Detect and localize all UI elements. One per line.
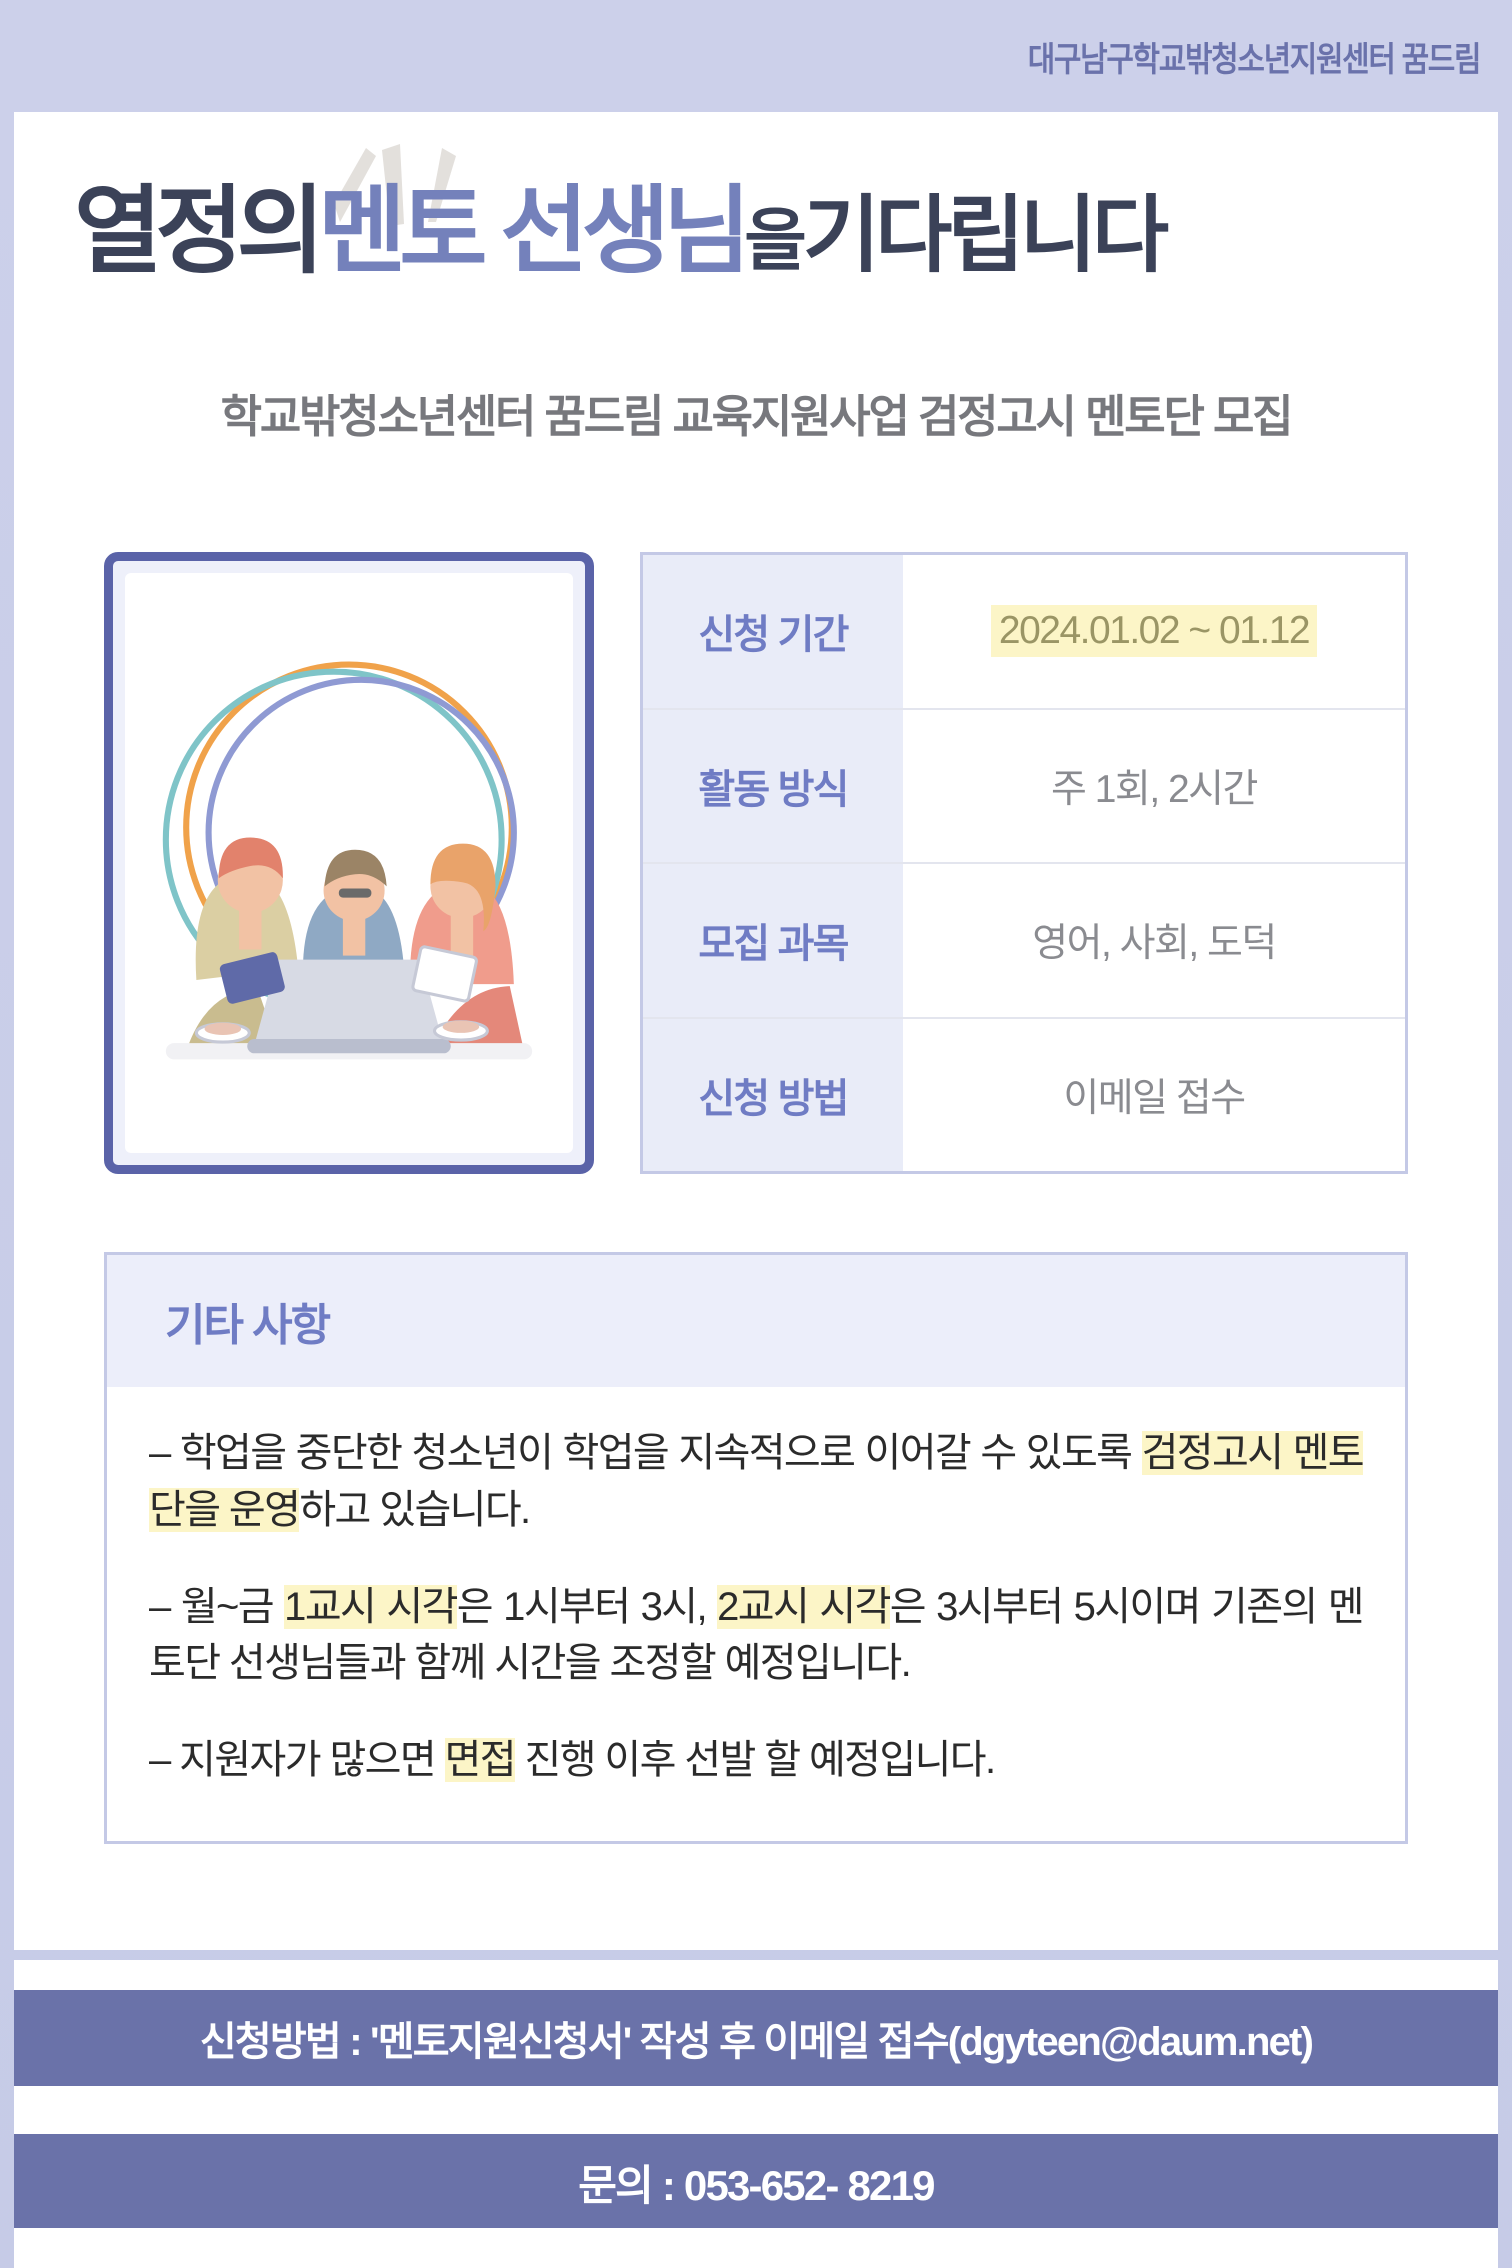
note-highlight-1: 면접 — [445, 1738, 515, 1782]
contact-text: 문의 : 053-652- 8219 — [578, 2152, 933, 2213]
footer-spacer-mid — [14, 2086, 1498, 2134]
info-label: 신청 기간 — [643, 555, 903, 708]
note-item: – 학업을 중단한 청소년이 학업을 지속적으로 이어갈 수 있도록 검정고시 … — [149, 1425, 1363, 1539]
note-highlight-1: 1교시 시각 — [284, 1585, 457, 1629]
note-mid: 하고 있습니다. — [299, 1488, 529, 1532]
headline-block: 열정의멘토 선생님을기다립니다 — [14, 184, 1498, 334]
notes-heading: 기타 사항 — [107, 1255, 1405, 1387]
headline-part-4: 기다립니다 — [803, 188, 1164, 282]
table-row: 모집 과목 영어, 사회, 도덕 — [643, 864, 1405, 1019]
headline-part-1: 열정의 — [74, 178, 318, 285]
info-value: 이메일 접수 — [903, 1019, 1405, 1172]
note-mid: 은 1시부터 3시, — [457, 1585, 717, 1629]
info-label: 모집 과목 — [643, 864, 903, 1017]
poster-subtitle: 학교밖청소년센터 꿈드림 교육지원사업 검정고시 멘토단 모집 — [14, 380, 1498, 445]
info-value: 주 1회, 2시간 — [903, 710, 1405, 863]
organization-name: 대구남구학교밖청소년지원센터 꿈드림 — [1027, 32, 1480, 81]
notes-body: – 학업을 중단한 청소년이 학업을 지속적으로 이어갈 수 있도록 검정고시 … — [107, 1387, 1405, 1841]
note-item: – 지원자가 많으면 면접 진행 이후 선발 할 예정입니다. — [149, 1732, 1363, 1789]
mentor-meeting-illustration-svg — [125, 573, 573, 1153]
note-pre: – 지원자가 많으면 — [149, 1738, 445, 1782]
note-mid: 진행 이후 선발 할 예정입니다. — [515, 1738, 994, 1782]
photo-frame — [104, 552, 594, 1174]
table-row: 신청 방법 이메일 접수 — [643, 1019, 1405, 1172]
footer-spacer-bottom — [14, 2228, 1498, 2268]
apply-method-text: 신청방법 : '멘토지원신청서' 작성 후 이메일 접수(dgyteen@dau… — [200, 2009, 1312, 2067]
poster-body-card: 열정의멘토 선생님을기다립니다 학교밖청소년센터 꿈드림 교육지원사업 검정고시… — [14, 112, 1498, 1950]
apply-method-bar: 신청방법 : '멘토지원신청서' 작성 후 이메일 접수(dgyteen@dau… — [14, 1990, 1498, 2086]
poster-root: 대구남구학교밖청소년지원센터 꿈드림 열정의멘토 선생님을기다립니다 학교밖청소… — [0, 0, 1512, 2268]
headline-text: 열정의멘토 선생님을기다립니다 — [74, 184, 1164, 280]
contact-bar: 문의 : 053-652- 8219 — [14, 2134, 1498, 2230]
headline-part-2: 멘토 선생님 — [318, 178, 744, 285]
headline-part-3: 을 — [744, 203, 803, 279]
note-pre: – 월~금 — [149, 1585, 284, 1629]
mentor-illustration — [125, 573, 573, 1153]
footer-spacer-top — [14, 1960, 1498, 1990]
info-value: 2024.01.02 ~ 01.12 — [903, 555, 1405, 708]
info-label: 활동 방식 — [643, 710, 903, 863]
table-row: 신청 기간 2024.01.02 ~ 01.12 — [643, 555, 1405, 710]
info-section: 신청 기간 2024.01.02 ~ 01.12 활동 방식 주 1회, 2시간… — [14, 552, 1498, 1174]
poster-header: 대구남구학교밖청소년지원센터 꿈드림 — [0, 0, 1512, 112]
info-label: 신청 방법 — [643, 1019, 903, 1172]
poster-footer: 신청방법 : '멘토지원신청서' 작성 후 이메일 접수(dgyteen@dau… — [14, 1960, 1498, 2230]
notes-panel: 기타 사항 – 학업을 중단한 청소년이 학업을 지속적으로 이어갈 수 있도록… — [104, 1252, 1408, 1844]
note-pre: – 학업을 중단한 청소년이 학업을 지속적으로 이어갈 수 있도록 — [149, 1431, 1142, 1475]
info-value-text: 2024.01.02 ~ 01.12 — [991, 605, 1317, 657]
note-highlight-2: 2교시 시각 — [717, 1585, 890, 1629]
table-row: 활동 방식 주 1회, 2시간 — [643, 710, 1405, 865]
note-item: – 월~금 1교시 시각은 1시부터 3시, 2교시 시각은 3시부터 5시이며… — [149, 1579, 1363, 1693]
info-value: 영어, 사회, 도덕 — [903, 864, 1405, 1017]
info-table: 신청 기간 2024.01.02 ~ 01.12 활동 방식 주 1회, 2시간… — [640, 552, 1408, 1174]
